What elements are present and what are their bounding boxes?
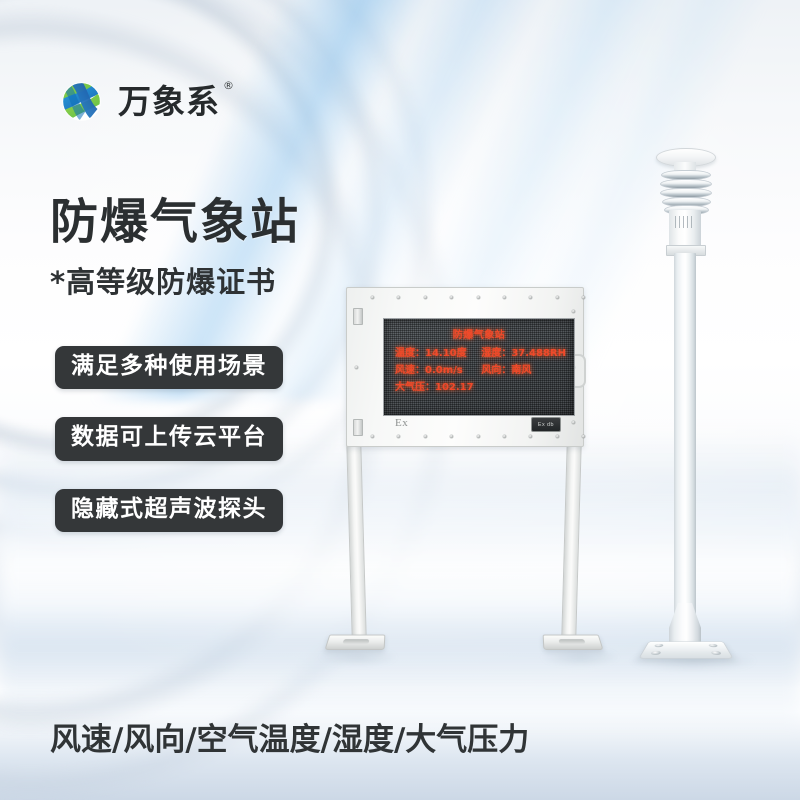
bolt-row-top [371, 296, 585, 299]
radiation-shield-louvers-icon [660, 170, 710, 212]
bolt-hole-icon [654, 644, 664, 647]
base-flange-plate-icon [638, 641, 734, 659]
bolt-head-icon [477, 296, 480, 299]
nameplate-text: Ex db [538, 422, 554, 427]
ultrasonic-weather-sensor-icon [669, 210, 701, 248]
bolt-head-icon [424, 435, 427, 438]
led-matrix-screen: 防爆气象站 温度：14.10度 湿度：37.488RH 风速：0.0m/s 风向… [383, 318, 575, 416]
bolt-head-icon [582, 435, 585, 438]
bolt-head-icon [355, 366, 358, 369]
bolt-column-left [355, 310, 358, 424]
led-readings-grid: 温度：14.10度 湿度：37.488RH 风速：0.0m/s 风向：南风 大气… [392, 344, 566, 393]
bolt-head-icon [582, 296, 585, 299]
registered-trademark-icon: ® [223, 80, 235, 91]
cabinet-foot-right [543, 635, 604, 650]
foot-slot-icon [343, 639, 370, 644]
cabinet-leg-right [561, 444, 581, 637]
product-marketing-banner: 万象系 ® 防爆气象站 *高等级防爆证书 满足多种使用场景 数据可上传云平台 隐… [0, 0, 800, 800]
bolt-head-icon [397, 296, 400, 299]
sensor-vent-slots-icon [675, 216, 695, 228]
bolt-hole-icon [650, 651, 661, 655]
feature-pill-1: 满足多种使用场景 [55, 346, 283, 389]
led-reading-wind-direction: 风向：南风 [481, 361, 566, 376]
feature-pill-list: 满足多种使用场景 数据可上传云平台 隐藏式超声波探头 [55, 346, 283, 532]
bolt-head-icon [572, 310, 575, 313]
brand-logo: 万象系 ® [58, 78, 220, 125]
bolt-head-icon [371, 435, 374, 438]
bolt-head-icon [529, 435, 532, 438]
cabinet-leg-left [346, 444, 366, 637]
page-title: 防爆气象站 [50, 196, 300, 250]
brand-wordmark: 万象系 ® [118, 85, 220, 118]
hinge-icon [353, 308, 363, 325]
bolt-hole-icon [708, 644, 718, 647]
bolt-head-icon [397, 435, 400, 438]
led-reading-wind-speed: 风速：0.0m/s [395, 361, 479, 376]
feature-pill-2: 数据可上传云平台 [55, 417, 283, 460]
explosion-proof-display-cabinet: 防爆气象站 温度：14.10度 湿度：37.488RH 风速：0.0m/s 风向… [333, 287, 595, 662]
ex-certification-mark: Ex [395, 417, 408, 429]
bolt-head-icon [556, 435, 559, 438]
bolt-head-icon [477, 435, 480, 438]
spec-footer-line: 风速/风向/空气温度/湿度/大气压力 [50, 722, 529, 759]
cabinet-enclosure: 防爆气象站 温度：14.10度 湿度：37.488RH 风速：0.0m/s 风向… [346, 287, 584, 447]
weather-sensor-mast [636, 148, 761, 660]
bolt-head-icon [450, 296, 453, 299]
bolt-hole-icon [711, 651, 722, 655]
bolt-row-bottom [371, 435, 585, 438]
brand-wordmark-text: 万象系 [118, 82, 220, 121]
bolt-head-icon [424, 296, 427, 299]
led-reading-humidity: 湿度：37.488RH [481, 344, 566, 359]
feature-pill-3: 隐藏式超声波探头 [55, 489, 283, 532]
bolt-head-icon [572, 421, 575, 424]
foot-slot-icon [559, 639, 586, 644]
bolt-head-icon [529, 296, 532, 299]
bolt-head-icon [503, 435, 506, 438]
bolt-head-icon [371, 296, 374, 299]
status-badge: Ex db [531, 417, 561, 432]
bolt-head-icon [450, 435, 453, 438]
led-reading-air-pressure: 大气压：102.17 [395, 378, 479, 393]
page-subtitle: *高等级防爆证书 [50, 265, 276, 300]
led-readout: 防爆气象站 温度：14.10度 湿度：37.488RH 风速：0.0m/s 风向… [384, 319, 574, 415]
bolt-head-icon [556, 296, 559, 299]
hinge-icon [353, 419, 363, 436]
globe-swirl-logo-icon [58, 78, 105, 125]
led-title: 防爆气象站 [392, 326, 566, 341]
mounting-pole-icon [674, 253, 696, 638]
bolt-head-icon [503, 296, 506, 299]
led-reading-temperature: 温度：14.10度 [395, 344, 479, 359]
cabinet-foot-left [324, 635, 385, 650]
